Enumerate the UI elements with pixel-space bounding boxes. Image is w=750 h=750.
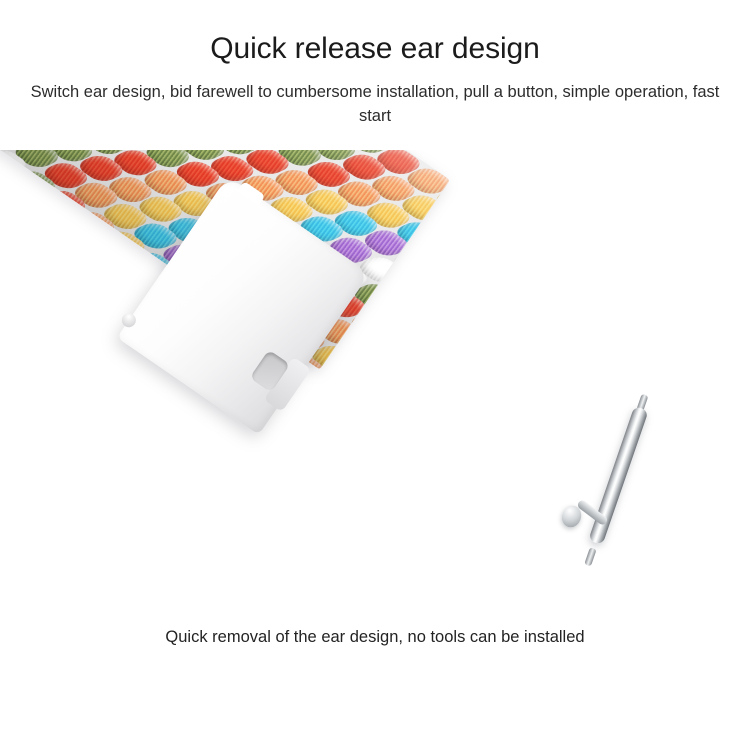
band-weave-bead bbox=[0, 173, 27, 205]
spring-bar-pin bbox=[520, 375, 736, 591]
band-weave-bead bbox=[442, 316, 450, 348]
band-weave-bead bbox=[1, 195, 56, 227]
band-weave-bead bbox=[405, 351, 450, 370]
connector-pin-nub bbox=[119, 310, 138, 329]
band-weave-bead bbox=[413, 294, 450, 326]
band-weave-bead bbox=[31, 214, 86, 246]
product-photo bbox=[0, 150, 750, 630]
band-weave-bead bbox=[447, 289, 450, 321]
product-feature-image: Quick release ear design Switch ear desi… bbox=[0, 0, 750, 750]
band-weave-bead bbox=[425, 213, 450, 245]
page-subtitle: Switch ear design, bid farewell to cumbe… bbox=[28, 80, 722, 128]
band-weave-bead bbox=[420, 240, 450, 272]
photo-caption: Quick removal of the ear design, no tool… bbox=[0, 626, 750, 648]
band-weave-bead bbox=[60, 235, 115, 267]
band-weave-bead bbox=[91, 255, 146, 287]
spring-bar-shaft bbox=[588, 406, 648, 545]
band-weave-bead bbox=[418, 268, 450, 300]
page-title: Quick release ear design bbox=[0, 30, 750, 68]
band-weave-bead bbox=[408, 321, 450, 353]
band-weave-rows bbox=[0, 150, 450, 180]
spring-bar-tip-bottom bbox=[584, 547, 596, 566]
band-weave-bead bbox=[437, 342, 450, 369]
